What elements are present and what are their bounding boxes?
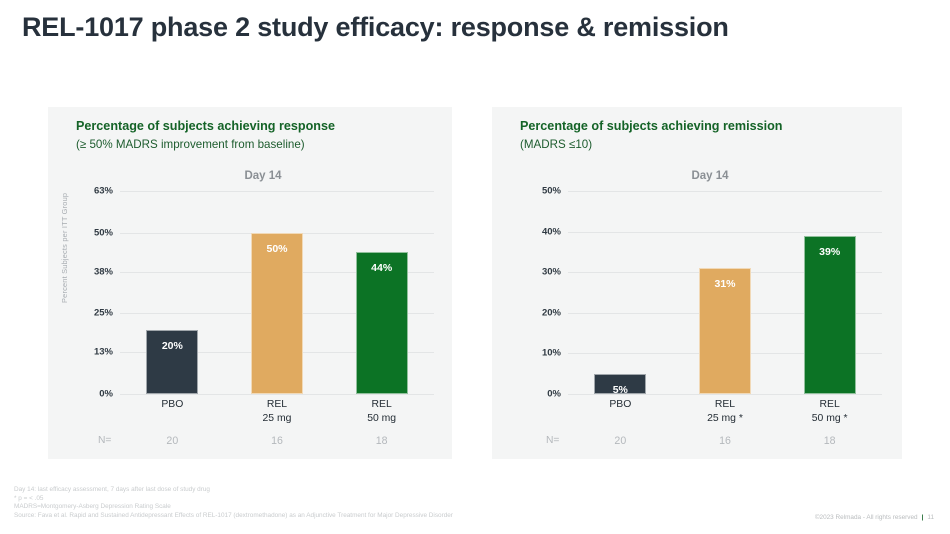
x-axis-label-line2: 50 mg * <box>777 412 882 426</box>
slide: REL-1017 phase 2 study efficacy: respons… <box>0 0 950 534</box>
plot-area: 0%13%25%38%50%63% 20%50%44% <box>120 191 434 394</box>
bar-column[interactable]: 20% <box>146 191 198 394</box>
y-axis-tick: 63% <box>94 186 113 197</box>
chart-panel-remission: Percentage of subjects achieving remissi… <box>492 107 902 459</box>
timepoint-label: Day 14 <box>492 170 902 182</box>
x-axis-labels: PBOREL25 mg *REL50 mg * <box>568 398 882 440</box>
footnote-line: * p = < .05 <box>14 495 453 504</box>
y-axis-tick: 13% <box>94 347 113 358</box>
x-axis-label-line2: 25 mg <box>225 412 330 426</box>
x-axis-label-line2: 50 mg <box>329 412 434 426</box>
n-value: 18 <box>777 435 882 447</box>
x-axis-label-line1: REL <box>225 398 330 412</box>
n-row: N= 201618 <box>48 435 434 455</box>
y-axis-tick: 25% <box>94 308 113 319</box>
bar[interactable]: 50% <box>251 233 303 394</box>
x-axis-label: PBO <box>568 398 673 412</box>
plot-area: 0%10%20%30%40%50% 5%31%39% <box>568 191 882 394</box>
footnote-line: MADRS=Montgomery-Asberg Depression Ratin… <box>14 503 453 512</box>
bar-value-label: 5% <box>595 384 645 396</box>
bar[interactable]: 31% <box>699 268 751 394</box>
n-value: 18 <box>329 435 434 447</box>
y-axis-tick: 40% <box>542 226 561 237</box>
y-axis-tick: 0% <box>99 389 113 400</box>
bar-value-label: 31% <box>700 278 750 290</box>
footnotes: Day 14: last efficacy assessment, 7 days… <box>14 486 453 520</box>
x-axis-label: REL25 mg <box>225 398 330 425</box>
footnote-line: Day 14: last efficacy assessment, 7 days… <box>14 486 453 495</box>
x-axis-label-line1: REL <box>673 398 778 412</box>
x-axis-labels: PBOREL25 mgREL50 mg <box>120 398 434 440</box>
bar-column[interactable]: 31% <box>699 191 751 394</box>
bar-series: 5%31%39% <box>568 191 882 394</box>
bar[interactable]: 5% <box>594 374 646 394</box>
x-axis-label-line1: REL <box>777 398 882 412</box>
y-axis-tick: 50% <box>94 227 113 238</box>
bar-column[interactable]: 50% <box>251 191 303 394</box>
x-axis-label-line1: REL <box>329 398 434 412</box>
bar-column[interactable]: 39% <box>804 191 856 394</box>
x-axis-label-line2: 25 mg * <box>673 412 778 426</box>
footnote-line: Source: Fava et al. Rapid and Sustained … <box>14 512 453 521</box>
n-value: 16 <box>673 435 778 447</box>
chart-title: Percentage of subjects achieving respons… <box>76 119 335 133</box>
n-row-label: N= <box>98 435 111 446</box>
n-row: N= 201618 <box>492 435 882 455</box>
n-value: 20 <box>568 435 673 447</box>
x-axis-label: REL50 mg <box>329 398 434 425</box>
bar[interactable]: 44% <box>356 252 408 394</box>
copyright-separator: | <box>922 514 924 521</box>
chart-subtitle: (≥ 50% MADRS improvement from baseline) <box>76 138 305 151</box>
n-value: 20 <box>120 435 225 447</box>
chart-title: Percentage of subjects achieving remissi… <box>520 119 782 133</box>
n-value: 16 <box>225 435 330 447</box>
n-row-label: N= <box>546 435 559 446</box>
y-axis-title: Percent Subjects per ITT Group <box>60 193 69 303</box>
x-axis-label: REL50 mg * <box>777 398 882 425</box>
x-axis-label: REL25 mg * <box>673 398 778 425</box>
y-axis-tick: 30% <box>542 267 561 278</box>
x-axis-label-line1: PBO <box>120 398 225 412</box>
y-axis-tick: 0% <box>547 389 561 400</box>
x-axis-label: PBO <box>120 398 225 412</box>
bar-value-label: 39% <box>805 246 855 258</box>
timepoint-label: Day 14 <box>48 170 452 182</box>
copyright-text: ©2023 Relmada - All rights reserved <box>815 514 918 521</box>
gridline <box>120 394 434 395</box>
page-title: REL-1017 phase 2 study efficacy: respons… <box>22 12 729 43</box>
bar[interactable]: 39% <box>804 236 856 394</box>
bar-column[interactable]: 44% <box>356 191 408 394</box>
y-axis-tick: 50% <box>542 186 561 197</box>
bar-value-label: 50% <box>252 243 302 255</box>
bar-value-label: 44% <box>357 262 407 274</box>
page-number: 11 <box>927 514 934 521</box>
y-axis-tick: 38% <box>94 266 113 277</box>
y-axis-tick: 20% <box>542 307 561 318</box>
bar-series: 20%50%44% <box>120 191 434 394</box>
y-axis-tick: 10% <box>542 348 561 359</box>
x-axis-label-line1: PBO <box>568 398 673 412</box>
copyright: ©2023 Relmada - All rights reserved|11 <box>815 514 934 521</box>
bar-value-label: 20% <box>147 340 197 352</box>
chart-panel-response: Percentage of subjects achieving respons… <box>48 107 452 459</box>
bar[interactable]: 20% <box>146 330 198 394</box>
bar-column[interactable]: 5% <box>594 191 646 394</box>
chart-subtitle: (MADRS ≤10) <box>520 138 592 151</box>
